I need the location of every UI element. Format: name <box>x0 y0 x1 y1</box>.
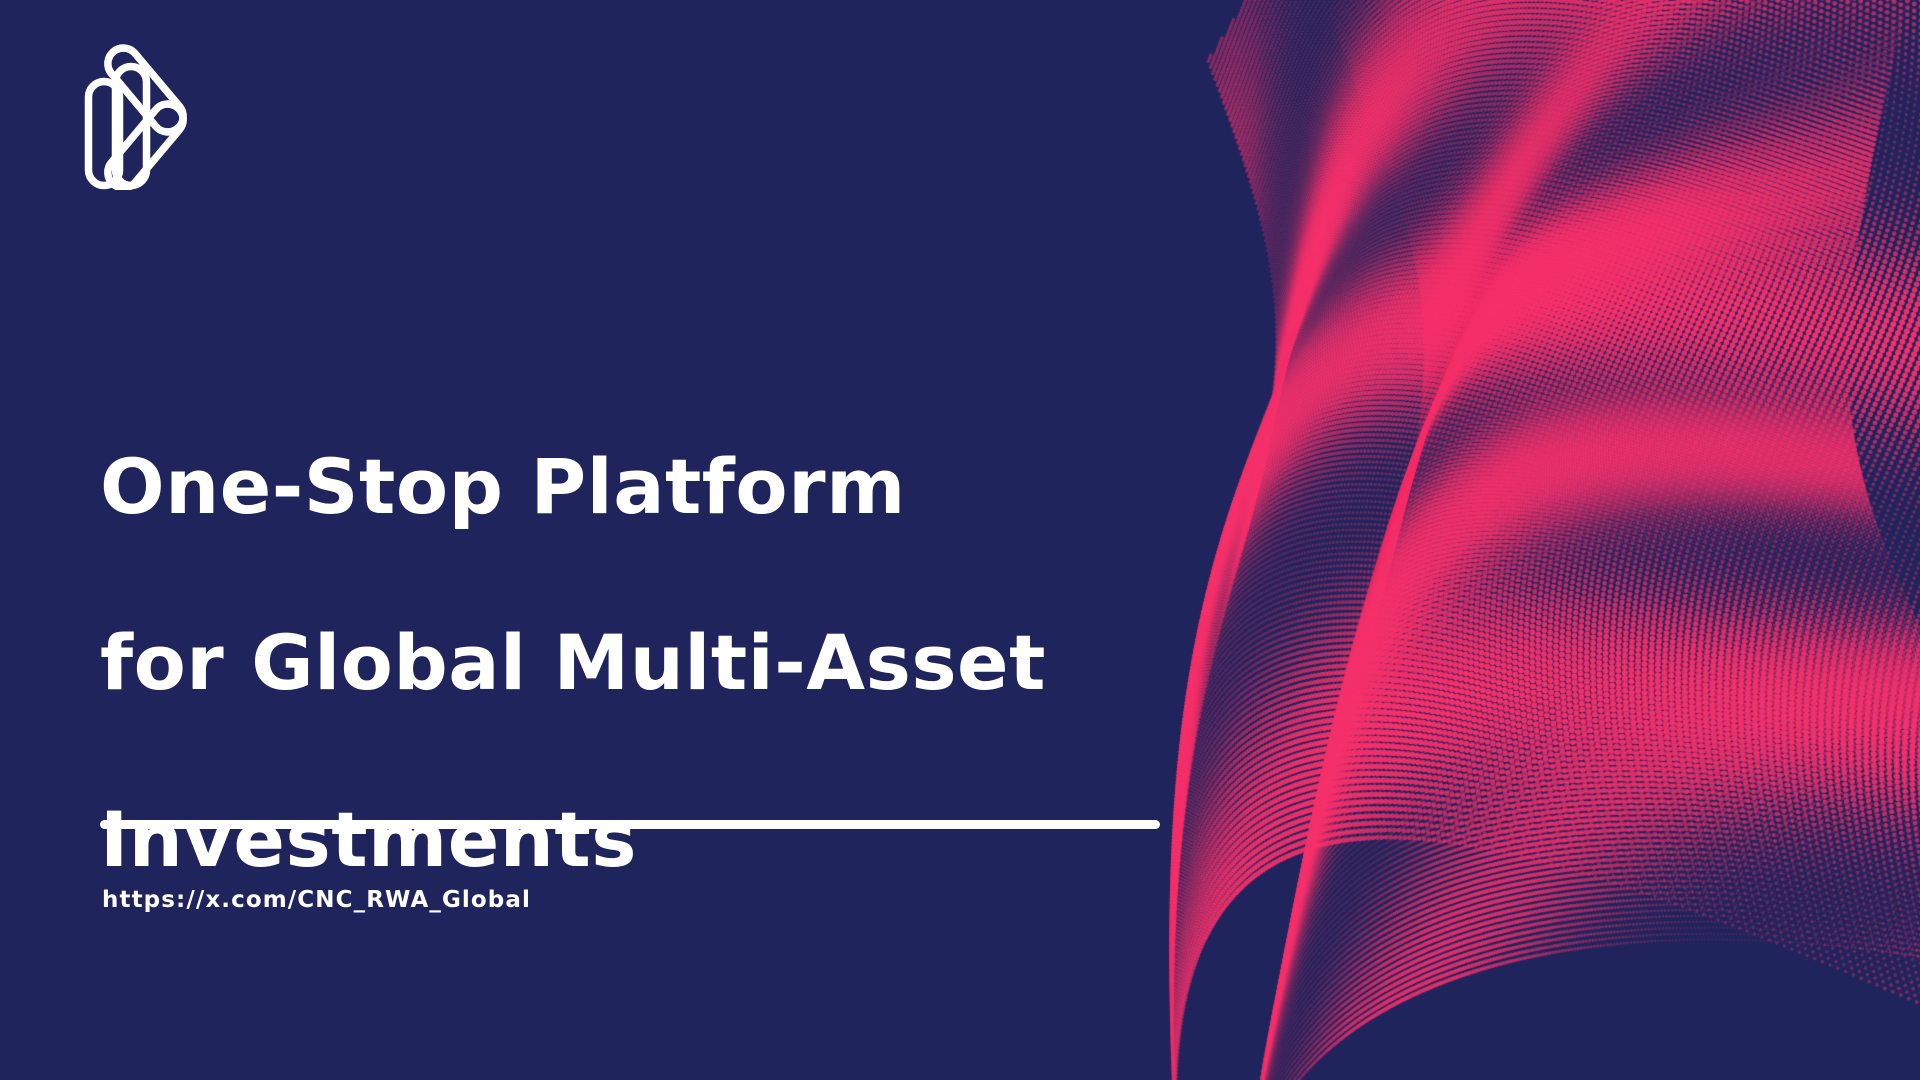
logo-svg <box>84 42 216 190</box>
page-title: One-Stop Platform for Global Multi-Asset… <box>100 355 1520 972</box>
headline-line-2: for Global Multi-Asset <box>100 619 1520 707</box>
slide-canvas: One-Stop Platform for Global Multi-Asset… <box>0 0 1920 1080</box>
headline-line-3: Investments <box>100 796 1520 884</box>
site-url-link[interactable]: https://x.com/CNC_RWA_Global <box>102 887 531 913</box>
headline-line-1: One-Stop Platform <box>100 443 1520 531</box>
hero-content: One-Stop Platform for Global Multi-Asset… <box>100 355 1520 972</box>
divider-rule <box>100 820 1160 829</box>
cnc-monogram-logo-icon[interactable] <box>84 42 216 190</box>
